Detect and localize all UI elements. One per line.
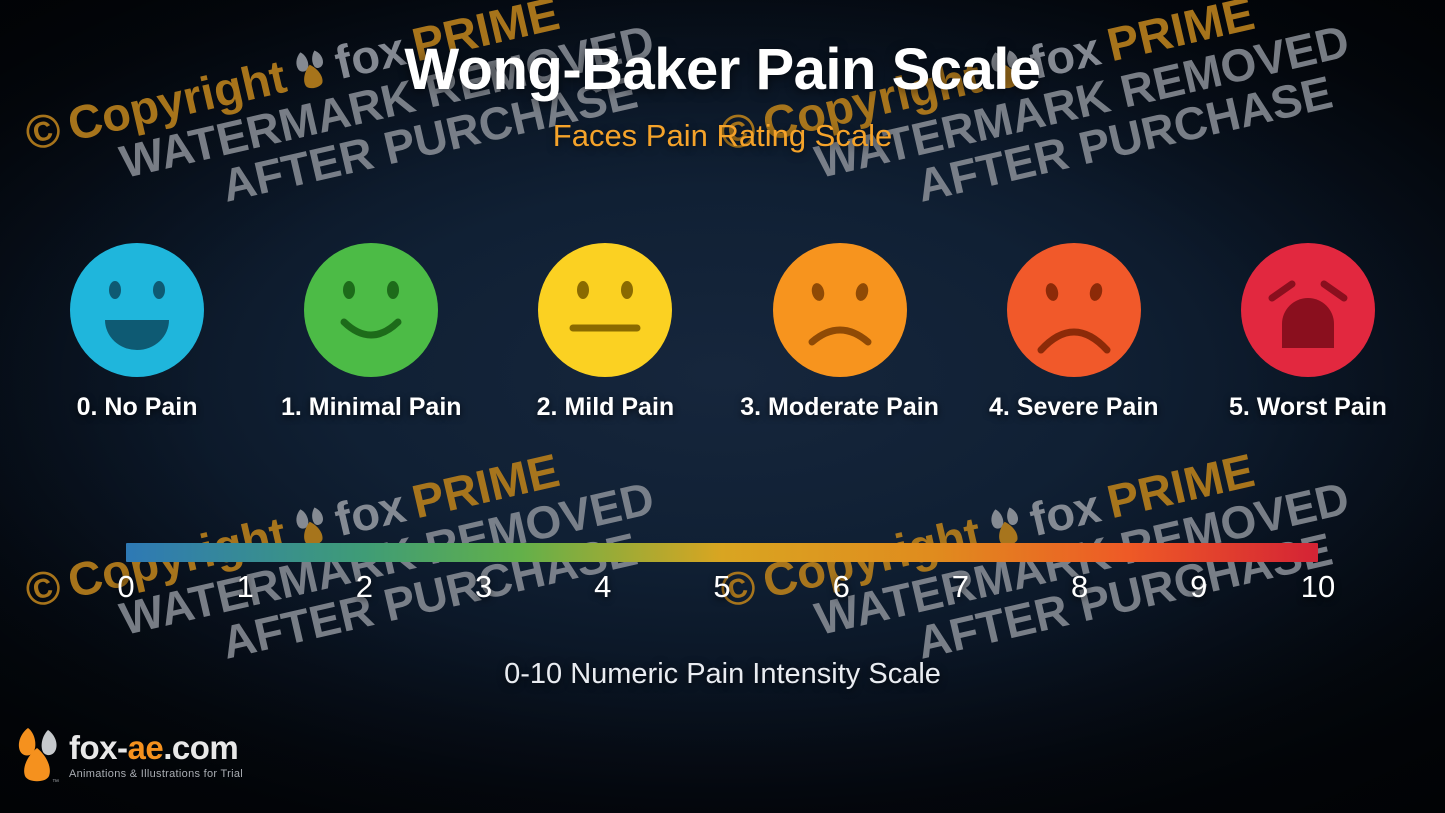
pain-face-icon-4 (1004, 240, 1144, 380)
watermark-brand-prime: PRIME (407, 442, 564, 529)
face-label-0: 0. No Pain (77, 393, 198, 422)
fox-ears-logo-icon: ™ (14, 724, 60, 786)
scale-tick-1: 1 (237, 569, 254, 605)
scale-tick-6: 6 (833, 569, 850, 605)
pain-face-icon-0 (67, 240, 207, 380)
scale-tick-4: 4 (594, 569, 611, 605)
scale-tick-8: 8 (1071, 569, 1088, 605)
watermark-brand-fox: fox (1024, 478, 1105, 547)
face-cell-1[interactable]: 1. Minimal Pain (254, 240, 488, 440)
face-cell-4[interactable]: 4. Severe Pain (957, 240, 1191, 440)
numeric-scale: 012345678910 (126, 543, 1318, 613)
scale-tick-9: 9 (1190, 569, 1207, 605)
scale-tick-row: 012345678910 (126, 569, 1318, 613)
face-cell-3[interactable]: 3. Moderate Pain (723, 240, 957, 440)
pain-scale-poster: ©CopyrightfoxPRIMEWATERMARK REMOVEDAFTER… (0, 0, 1445, 813)
faces-row: 0. No Pain1. Minimal Pain2. Mild Pain3. … (20, 240, 1425, 440)
scale-tick-7: 7 (952, 569, 969, 605)
logo-wordmark: fox-ae.com (69, 731, 243, 764)
pain-face-icon-3 (770, 240, 910, 380)
scale-tick-0: 0 (117, 569, 134, 605)
face-cell-2[interactable]: 2. Mild Pain (488, 240, 722, 440)
face-cell-5[interactable]: 5. Worst Pain (1191, 240, 1425, 440)
face-label-1: 1. Minimal Pain (281, 393, 462, 422)
face-label-4: 4. Severe Pain (989, 393, 1159, 422)
scale-tick-3: 3 (475, 569, 492, 605)
face-label-2: 2. Mild Pain (537, 393, 675, 422)
page-title: Wong-Baker Pain Scale (0, 36, 1445, 103)
pain-face-icon-2 (535, 240, 675, 380)
watermark-brand-fox: fox (329, 478, 410, 547)
pain-face-icon-5 (1238, 240, 1378, 380)
watermark-brand-prime: PRIME (1102, 442, 1259, 529)
pain-face-icon-1 (301, 240, 441, 380)
logo-tagline: Animations & Illustrations for Trial (69, 768, 243, 780)
scale-caption: 0-10 Numeric Pain Intensity Scale (0, 658, 1445, 691)
pain-gradient-bar (126, 543, 1318, 562)
scale-tick-5: 5 (713, 569, 730, 605)
logo-name-accent: ae (128, 729, 164, 766)
trademark-icon: ™ (52, 779, 59, 786)
face-label-3: 3. Moderate Pain (740, 393, 939, 422)
brand-logo[interactable]: ™ fox-ae.com Animations & Illustrations … (14, 724, 243, 786)
logo-name-prefix: fox- (69, 729, 128, 766)
scale-tick-10: 10 (1301, 569, 1335, 605)
copyright-icon: © (20, 557, 66, 618)
face-cell-0[interactable]: 0. No Pain (20, 240, 254, 440)
scale-tick-2: 2 (356, 569, 373, 605)
logo-name-suffix: .com (163, 729, 238, 766)
face-label-5: 5. Worst Pain (1229, 393, 1387, 422)
page-subtitle: Faces Pain Rating Scale (0, 118, 1445, 154)
